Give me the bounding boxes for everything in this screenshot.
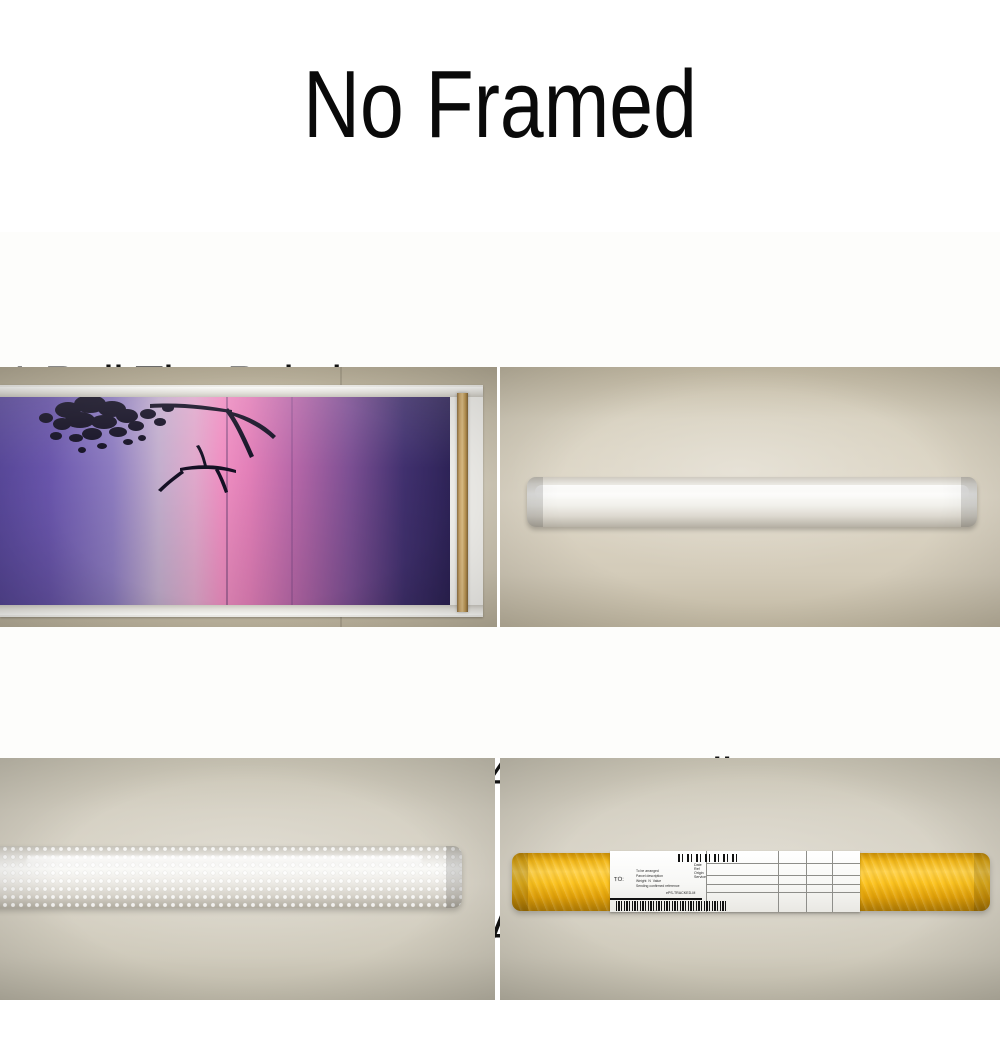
pe-film-tube-photo [500, 367, 1000, 627]
canvas-top-edge [0, 387, 483, 397]
rolled-painting-photo [0, 367, 497, 627]
tube-cap-left [512, 853, 528, 911]
label-barcode-top [678, 854, 740, 862]
label-rule-4 [706, 892, 860, 893]
label-column-divider-3 [806, 851, 807, 912]
label-column-divider-4 [832, 851, 833, 912]
yellow-tape-labeled-tube-photo: Date Ref Origin Service TO: To be arrang… [500, 758, 1000, 1000]
tube-cap-right [974, 853, 990, 911]
page-title: No Framed [90, 55, 910, 155]
label-rule-heavy [610, 898, 702, 900]
label-barcode-bottom [616, 901, 726, 911]
tube-cap-left [527, 477, 543, 527]
paper-pipe [457, 393, 468, 612]
pe-film-wrapped-tube [527, 477, 977, 527]
label-barcode-top-caption: Date Ref Origin Service [694, 863, 706, 879]
caption-row-top: 1.Roll The Painting Up With Paper Pipe 2… [0, 232, 1000, 367]
bubble-wrapped-tube [0, 846, 462, 908]
label-address-block: To be arranged Parcel description Weight… [636, 869, 680, 889]
title-band: No Framed [0, 0, 1000, 232]
label-rule-3 [706, 884, 860, 885]
caption-row-bottom: 3.Put It Into PE Bubble Bag 4.Cover Yell… [0, 627, 1000, 758]
bubble-bag-tube-photo [0, 758, 495, 1000]
painting-sheen [0, 394, 450, 607]
label-rule-2 [706, 875, 860, 876]
painting-artwork [0, 394, 450, 607]
label-rule-1 [706, 863, 860, 864]
shipping-label: Date Ref Origin Service TO: To be arrang… [610, 851, 860, 912]
tube-cap-right [446, 846, 462, 908]
canvas-roll [0, 385, 483, 617]
canvas-bottom-edge [0, 605, 483, 615]
tube-highlight [26, 856, 422, 868]
label-to-marker: TO: [614, 877, 624, 883]
label-column-divider-2 [778, 851, 779, 912]
label-bottom-caption: ePS-TRACKED-M [666, 891, 695, 895]
packaging-instruction-graphic: No Framed 1.Roll The Painting Up With Pa… [0, 0, 1000, 1000]
tube-cap-right [961, 477, 977, 527]
tube-highlight [535, 485, 969, 499]
